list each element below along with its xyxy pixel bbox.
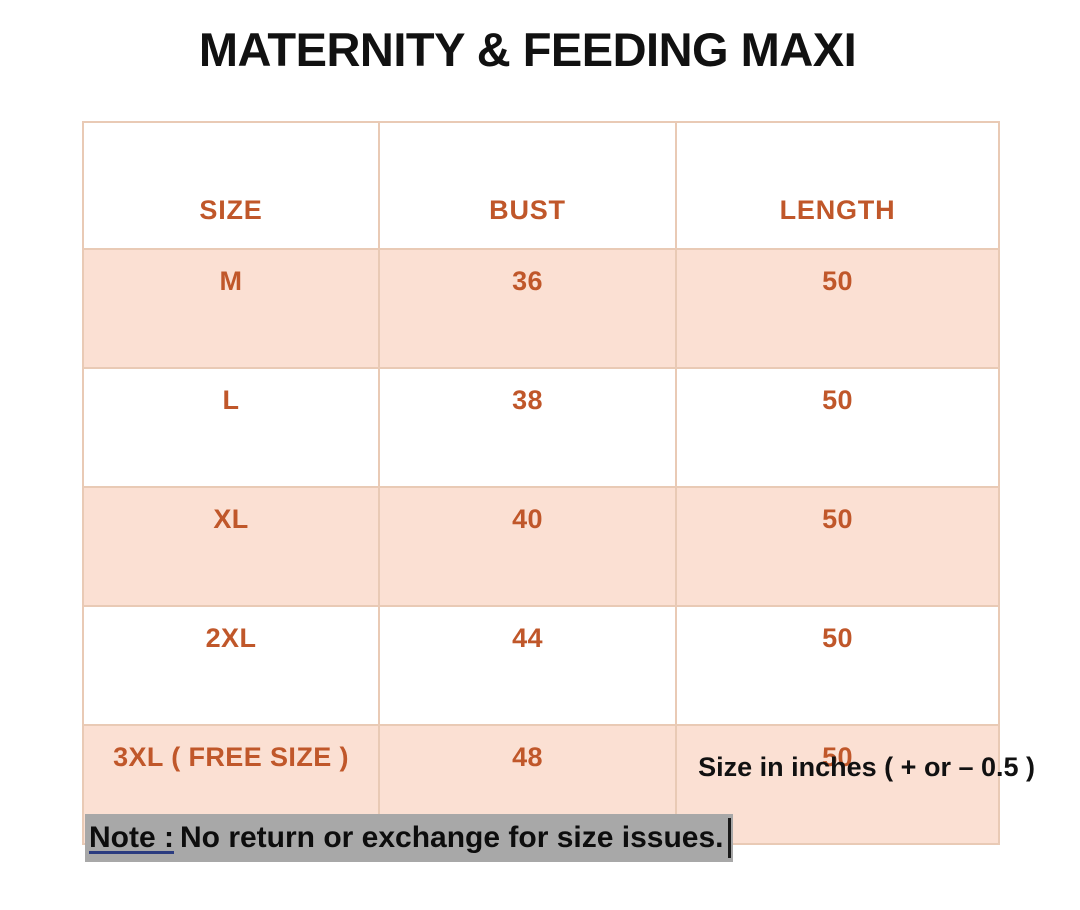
table-row: M 36 50 — [83, 249, 999, 368]
cell-length: 50 — [676, 249, 999, 368]
table-header: SIZE BUST LENGTH — [83, 122, 999, 249]
column-header-length: LENGTH — [676, 122, 999, 249]
text-cursor-caret — [728, 818, 731, 858]
table-header-row: SIZE BUST LENGTH — [83, 122, 999, 249]
cell-bust: 44 — [379, 606, 676, 725]
size-units-note: Size in inches ( + or – 0.5 ) — [0, 752, 1035, 783]
page-title: MATERNITY & FEEDING MAXI — [0, 22, 1055, 77]
cell-bust: 38 — [379, 368, 676, 487]
note-highlight-bar: Note : No return or exchange for size is… — [85, 814, 733, 862]
cell-length: 50 — [676, 487, 999, 606]
size-chart-page: MATERNITY & FEEDING MAXI SIZE BUST LENGT… — [0, 0, 1080, 910]
note-label: Note : — [89, 821, 174, 855]
cell-size: M — [83, 249, 379, 368]
cell-size: 2XL — [83, 606, 379, 725]
cell-length: 50 — [676, 368, 999, 487]
cell-size: L — [83, 368, 379, 487]
cell-bust: 40 — [379, 487, 676, 606]
cell-length: 50 — [676, 606, 999, 725]
note-text: No return or exchange for size issues. — [180, 821, 724, 855]
cell-size: XL — [83, 487, 379, 606]
table-row: XL 40 50 — [83, 487, 999, 606]
column-header-size: SIZE — [83, 122, 379, 249]
cell-bust: 36 — [379, 249, 676, 368]
table-row: L 38 50 — [83, 368, 999, 487]
table-row: 2XL 44 50 — [83, 606, 999, 725]
size-chart-table: SIZE BUST LENGTH M 36 50 L 38 50 XL 40 5… — [82, 121, 1000, 845]
column-header-bust: BUST — [379, 122, 676, 249]
